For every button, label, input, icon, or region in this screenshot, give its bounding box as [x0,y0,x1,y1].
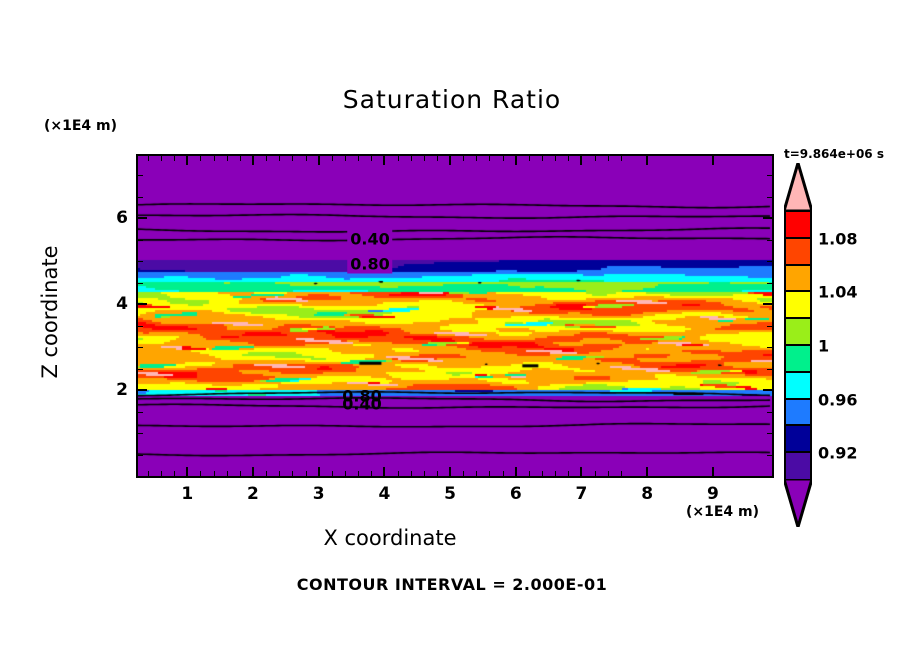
x-tick-label: 6 [510,484,522,504]
contour-plot-panel: 0.400.800.800.40 [136,154,774,478]
colorbar-band [786,346,810,373]
contour-line-label: 0.80 [347,255,392,274]
colorbar-band [786,453,810,480]
colorbar-top-cap [784,163,812,211]
colorbar-band [786,426,810,453]
saturation-field-raster [138,156,772,476]
x-tick-label: 3 [313,484,325,504]
colorbar-bottom-cap [784,479,812,527]
colorbar-band [786,292,810,319]
contour-line-label: 0.40 [339,395,384,414]
y-tick-label: 6 [92,208,128,228]
x-tick-label: 9 [707,484,719,504]
x-tick-label: 4 [378,484,390,504]
colorbar-tick-label: 0.96 [818,390,857,409]
y-axis-unit-label: (×1E4 m) [44,118,117,134]
contour-line-label: 0.40 [347,230,392,249]
x-axis-title: X coordinate [0,526,780,550]
colorbar-band [786,373,810,400]
colorbar-band [786,400,810,427]
colorbar-band [786,266,810,293]
colorbar-tick-label: 0.92 [818,444,857,463]
colorbar-tick-label: 1.08 [818,229,857,248]
x-tick-label: 7 [576,484,588,504]
page-title: Saturation Ratio [0,85,904,114]
x-tick-label: 8 [641,484,653,504]
y-tick-label: 4 [92,294,128,314]
colorbar [784,210,812,482]
x-axis-unit-label: (×1E4 m) [686,504,759,520]
x-tick-label: 5 [444,484,456,504]
colorbar-band [786,212,810,239]
colorbar-tick-label: 1.04 [818,283,857,302]
field-canvas: 0.400.800.800.40 [138,156,772,476]
x-tick-label: 1 [181,484,193,504]
y-axis-title: Z coordinate [38,222,62,402]
colorbar-band [786,239,810,266]
colorbar-band [786,319,810,346]
colorbar-tick-label: 1 [818,337,829,356]
x-tick-label: 2 [247,484,259,504]
y-tick-label: 2 [92,380,128,400]
timestamp-label: t=9.864e+06 s [784,147,884,161]
contour-interval-footer: CONTOUR INTERVAL = 2.000E-01 [0,575,904,594]
